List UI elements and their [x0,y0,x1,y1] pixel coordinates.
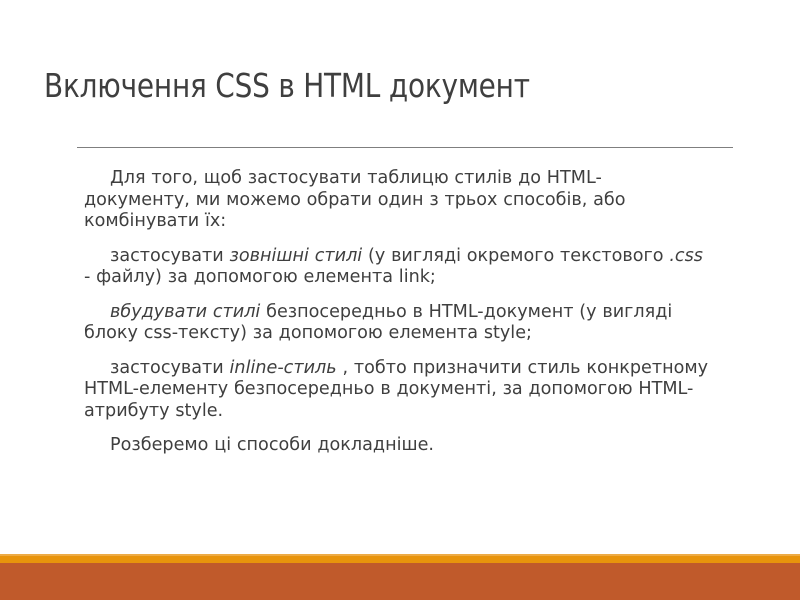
inline-emphasis: inline-стиль [230,358,337,378]
paragraph-closing: Розберемо ці способи докладніше. [84,435,704,457]
slide-canvas: Включення CSS в HTML документ Для того, … [0,0,800,600]
external-emphasis: зовнішні стилі [230,246,363,266]
embedded-emphasis: вбудувати стилі [110,302,260,322]
inline-lead: застосувати [110,358,230,378]
paragraph-method-external: застосувати зовнішні стилі (у вигляді ок… [84,246,714,289]
footer-accent-band [0,556,800,563]
external-middle: (у вигляді окремого текстового [362,246,669,266]
external-lead: застосувати [110,246,230,266]
slide-body: Для того, щоб застосувати таблицю стилів… [84,168,732,457]
footer-main-band [0,563,800,600]
title-divider [77,147,733,148]
external-emphasis-css: .css [669,246,703,266]
paragraph-intro: Для того, щоб застосувати таблицю стилів… [84,168,684,233]
paragraph-method-embedded: вбудувати стилі безпосередньо в HTML-док… [84,302,709,345]
page-title: Включення CSS в HTML документ [44,64,721,108]
external-tail: - файлу) за допомогою елемента link; [84,267,436,287]
paragraph-method-inline: застосувати inline-стиль , тобто признач… [84,358,726,423]
